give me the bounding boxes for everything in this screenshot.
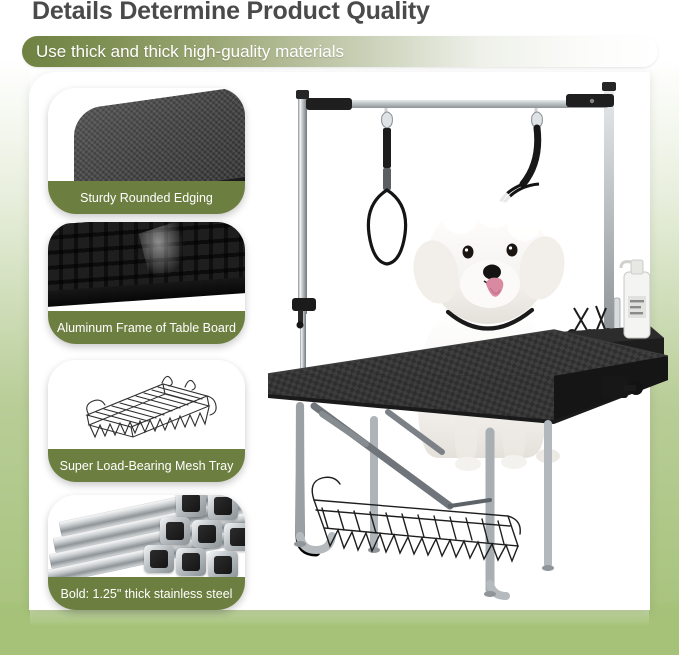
product-photo-grooming-table bbox=[262, 76, 674, 628]
feature-card-mesh-tray: Super Load-Bearing Mesh Tray bbox=[48, 360, 245, 482]
grooming-loop-left bbox=[368, 108, 405, 264]
page-title: Details Determine Product Quality bbox=[32, 0, 430, 26]
feature-card-label: Bold: 1.25" thick stainless steel bbox=[48, 577, 245, 610]
frame-accent-left bbox=[0, 60, 30, 655]
wire-mesh-tray-icon bbox=[59, 363, 235, 447]
lotion-bottle bbox=[621, 260, 650, 338]
feature-card-rounded-edging: Sturdy Rounded Edging bbox=[48, 88, 245, 214]
infographic-page: Details Determine Product Quality Use th… bbox=[0, 0, 679, 655]
rounded-edging-photo bbox=[48, 88, 245, 181]
feature-card-steel-tubes: Bold: 1.25" thick stainless steel bbox=[48, 495, 245, 610]
mesh-tray-photo bbox=[48, 360, 245, 449]
rubber-mat-corner-icon bbox=[74, 88, 245, 181]
feature-card-aluminum-frame: Aluminum Frame of Table Board bbox=[48, 222, 245, 344]
aluminum-frame-photo bbox=[48, 222, 245, 311]
subtitle-text: Use thick and thick high-guality materia… bbox=[36, 42, 344, 62]
feature-card-label: Sturdy Rounded Edging bbox=[48, 181, 245, 214]
steel-tubes-photo bbox=[48, 495, 245, 577]
feature-card-label: Aluminum Frame of Table Board bbox=[48, 311, 245, 344]
steel-stack-icon bbox=[48, 495, 245, 577]
feature-card-label: Super Load-Bearing Mesh Tray bbox=[48, 449, 245, 482]
